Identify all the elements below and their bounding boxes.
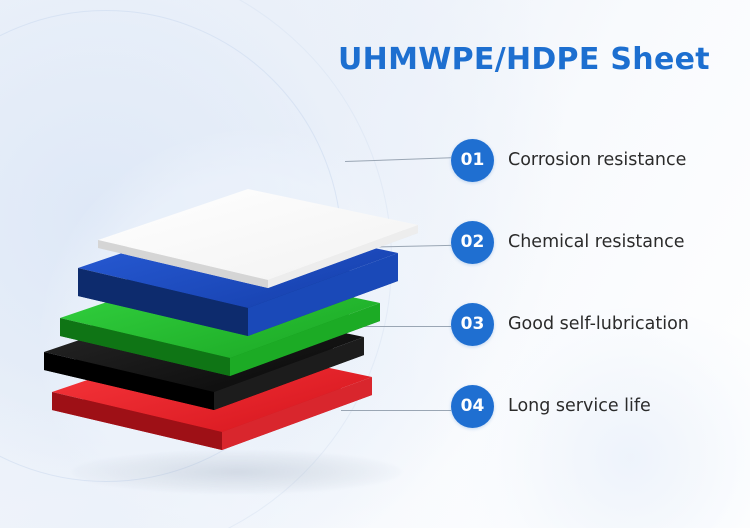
feature-item-03: 03 Good self-lubrication [451, 302, 741, 346]
product-banner: UHMWPE/HDPE Sheet [0, 0, 750, 528]
stacked-sheets-illustration [42, 120, 422, 450]
feature-list: 01 Corrosion resistance 02 Chemical resi… [451, 138, 741, 428]
sheets-svg [42, 120, 422, 450]
page-title: UHMWPE/HDPE Sheet [338, 42, 710, 77]
feature-number-badge-04: 04 [451, 385, 494, 428]
feature-label-03: Good self-lubrication [508, 314, 689, 334]
feature-number-badge-02: 02 [451, 221, 494, 264]
feature-label-02: Chemical resistance [508, 232, 685, 252]
feature-item-04: 04 Long service life [451, 384, 741, 428]
feature-item-02: 02 Chemical resistance [451, 220, 741, 264]
feature-number-badge-01: 01 [451, 139, 494, 182]
feature-label-01: Corrosion resistance [508, 150, 686, 170]
feature-item-01: 01 Corrosion resistance [451, 138, 741, 182]
feature-number-badge-03: 03 [451, 303, 494, 346]
stack-shadow [72, 450, 402, 494]
feature-label-04: Long service life [508, 396, 651, 416]
